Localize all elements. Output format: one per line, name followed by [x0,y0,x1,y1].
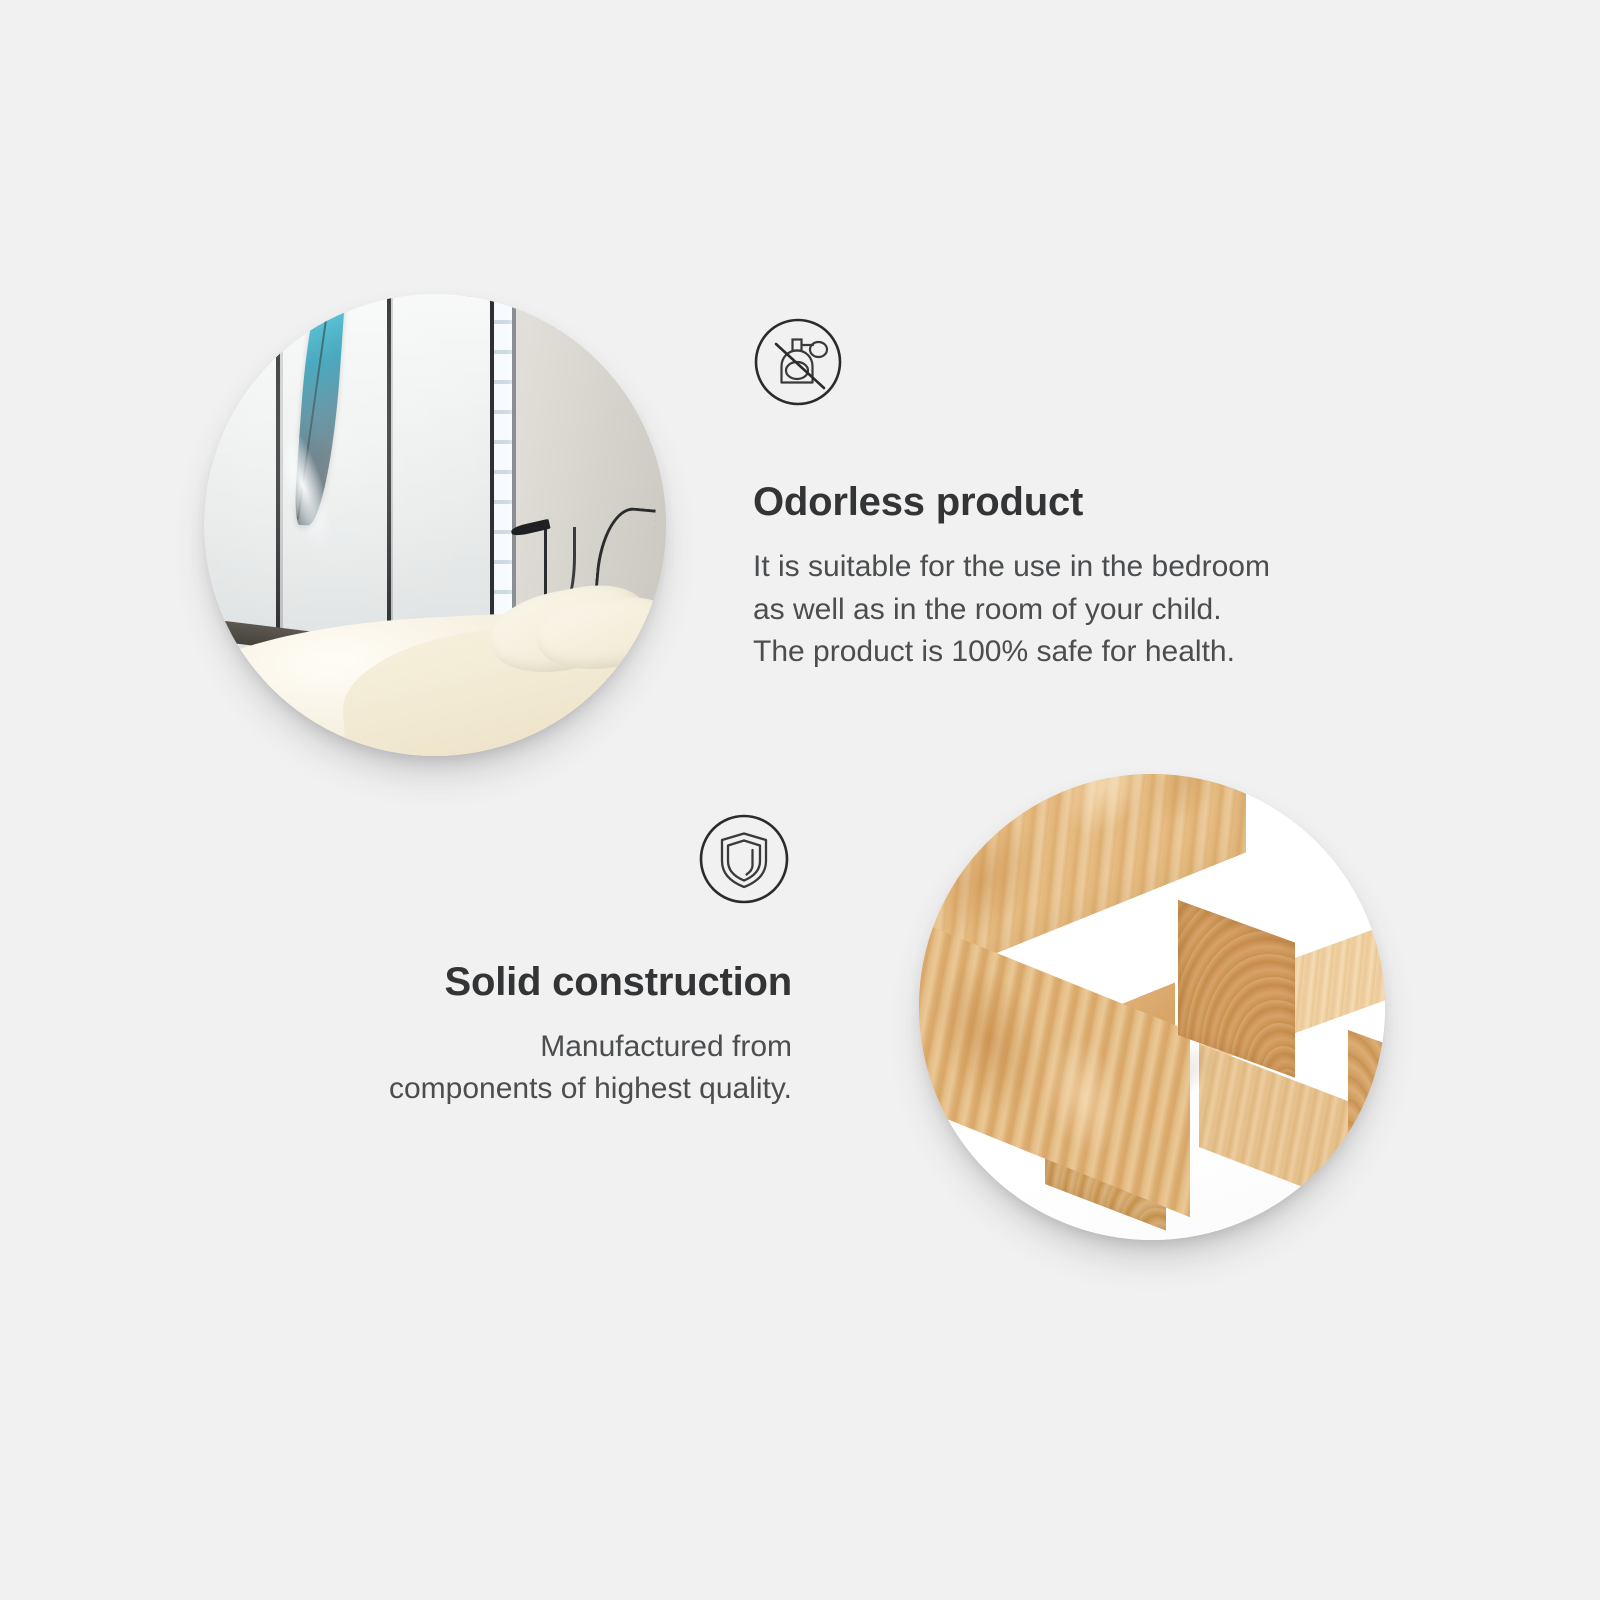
art-panel-1 [204,294,278,654]
description-line: as well as in the room of your child. [753,589,1453,632]
infographic-stage: Odorless product It is suitable for the … [0,0,1600,1600]
bedroom-feather-art-photo [204,294,666,756]
panel-divider-2 [387,294,391,664]
bedroom-scene [204,294,666,756]
panel-divider-3 [490,294,494,664]
feature-solid-text: Solid construction Manufactured from com… [260,960,792,1110]
feature-odorless-description: It is suitable for the use in the bedroo… [753,546,1453,674]
feature-odorless-text: Odorless product It is suitable for the … [753,480,1453,674]
wood-scene [919,774,1385,1240]
shield-icon [697,812,791,906]
panel-divider-1 [276,294,280,664]
no-perfume-icon [752,316,844,408]
art-panel-2 [283,294,389,654]
feather-wisp [283,434,347,557]
description-line: components of highest quality. [260,1068,792,1110]
feature-odorless-title: Odorless product [753,480,1453,524]
wooden-beams-photo [919,774,1385,1240]
description-line: It is suitable for the use in the bedroo… [753,546,1453,589]
description-line: Manufactured from [260,1026,792,1068]
feature-solid-description: Manufactured from components of highest … [260,1026,792,1110]
description-line: The product is 100% safe for health. [753,631,1453,674]
art-panel-3 [393,294,490,654]
feather-1 [204,302,207,534]
feature-solid-title: Solid construction [260,960,792,1004]
